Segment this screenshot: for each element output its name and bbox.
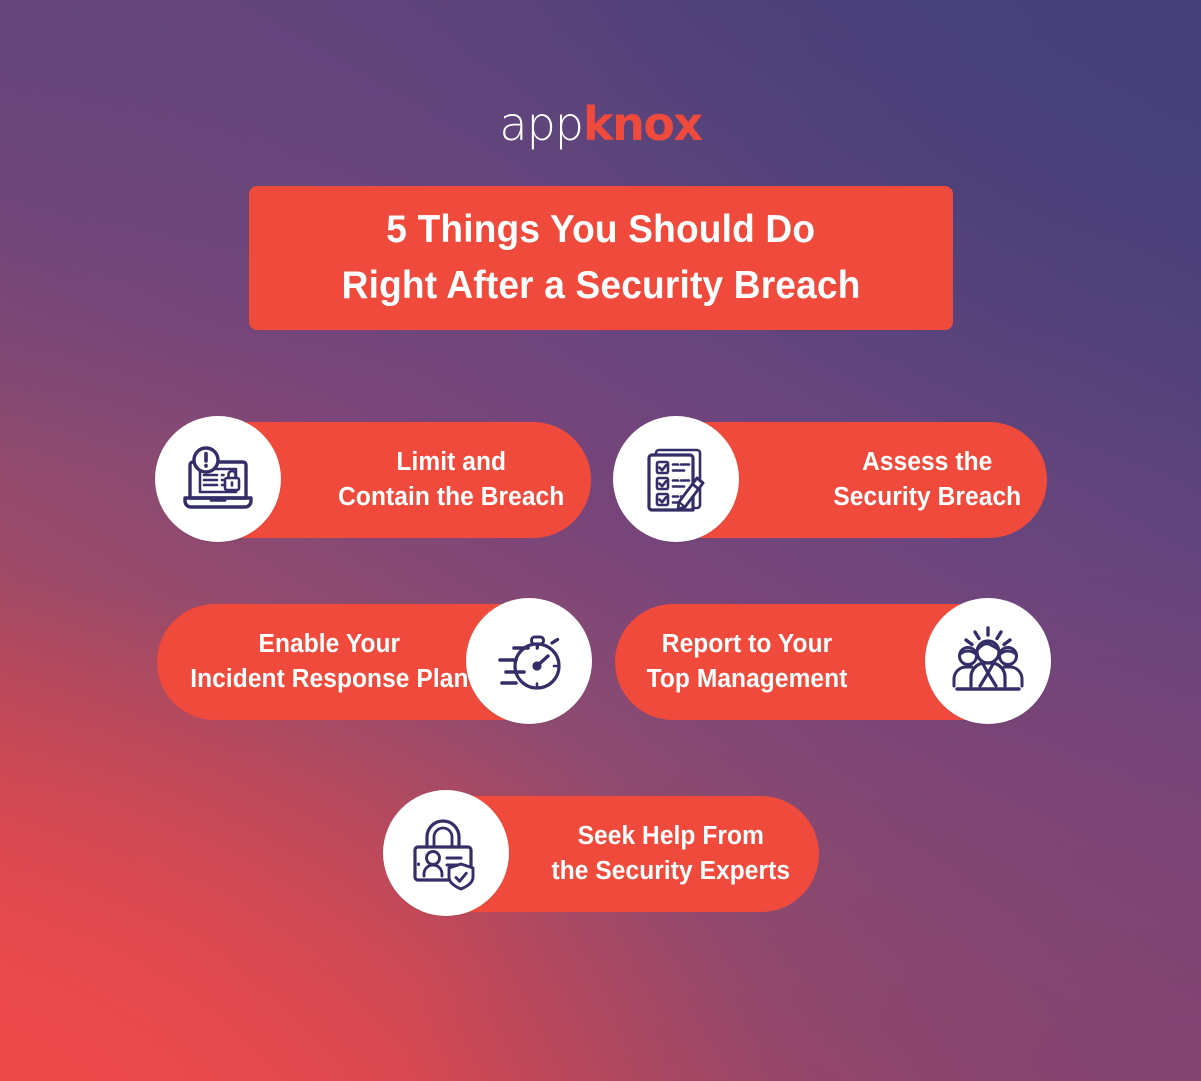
item-1-line-2: Contain the Breach [339,483,565,511]
item-5-line-1: Seek Help From [578,822,764,850]
title-banner: 5 Things You Should Do Right After a Sec… [249,186,953,330]
team-group-icon [925,598,1051,724]
item-1-line-1: Limit and [397,448,507,476]
title-line-2: Right After a Security Breach [342,258,861,314]
item-3-line-2: Incident Response Plan [190,665,468,693]
item-label-1: Limit and Contain the Breach [339,445,586,515]
infographic-canvas: appknox 5 Things You Should Do Right Aft… [0,0,1201,1081]
item-4-line-1: Report to Your [662,630,832,658]
appknox-logo: appknox [0,101,1201,147]
checklist-pen-icon [613,416,739,542]
laptop-alert-lock-icon [155,416,281,542]
item-label-5: Seek Help From the Security Experts [552,819,814,889]
item-2-line-1: Assess the [862,448,992,476]
logo-app-text: app [499,97,583,151]
item-3-line-1: Enable Your [259,630,401,658]
item-4-line-2: Top Management [647,665,848,693]
item-2-line-2: Security Breach [834,483,1022,511]
item-5-line-2: the Security Experts [552,857,791,885]
item-label-2: Assess the Security Breach [834,445,1043,515]
title-line-1: 5 Things You Should Do [387,202,816,258]
padlock-person-shield-icon [383,790,509,916]
item-label-3: Enable Your Incident Response Plan [163,627,468,697]
logo-knox-text: knox [583,97,702,151]
stopwatch-speed-icon [466,598,592,724]
item-label-4: Report to Your Top Management [620,627,848,697]
